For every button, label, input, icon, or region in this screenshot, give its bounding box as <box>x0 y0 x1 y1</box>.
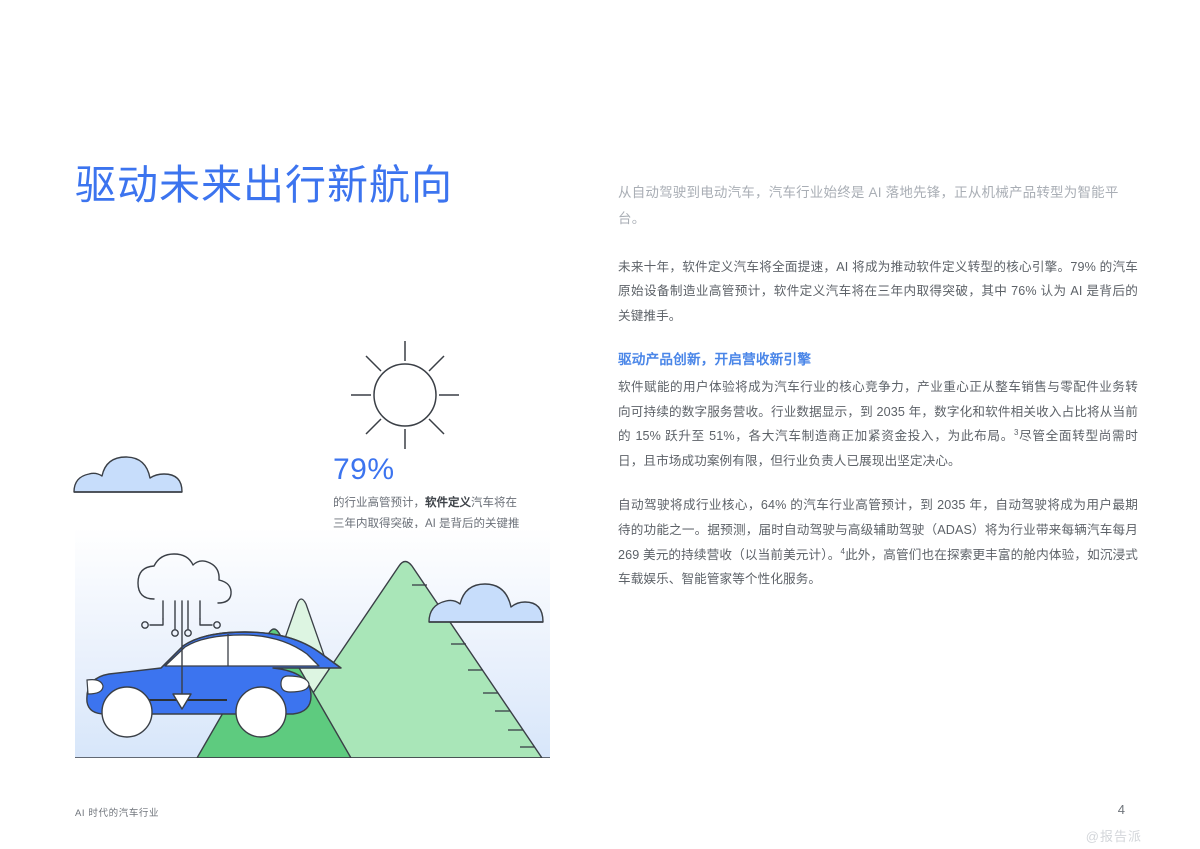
stat-caption-part1: 的行业高管预计， <box>333 497 425 509</box>
page-number: 4 <box>1118 802 1125 817</box>
stat-number: 79% <box>333 454 523 486</box>
page-title: 驱动未来出行新航向 <box>75 160 550 211</box>
paragraph-1: 未来十年，软件定义汽车将全面提速，AI 将成为推动软件定义转型的核心引擎。79%… <box>618 255 1138 329</box>
cloud-node-icon <box>130 553 250 713</box>
cloud-icon-left <box>72 452 184 500</box>
section-heading: 驱动产品创新，开启营收新引擎 <box>618 348 1138 368</box>
right-column: 从自动驾驶到电动汽车，汽车行业始终是 AI 落地先锋，正从机械产品转型为智能平台… <box>618 180 1138 612</box>
paragraph-2: 软件赋能的用户体验将成为汽车行业的核心竞争力，产业重心正从整车销售与零配件业务转… <box>618 375 1138 473</box>
watermark: @报告派 <box>1086 826 1142 845</box>
left-column: 驱动未来出行新航向 <box>75 160 550 211</box>
sun-icon <box>335 333 475 458</box>
lead-paragraph: 从自动驾驶到电动汽车，汽车行业始终是 AI 落地先锋，正从机械产品转型为智能平台… <box>618 180 1138 233</box>
document-page: 驱动未来出行新航向 79% 的行业高管预计，软件定义汽车将在三年内 <box>0 0 1200 849</box>
paragraph-3: 自动驾驶将成行业核心，64% 的汽车行业高管预计，到 2035 年，自动驾驶将成… <box>618 493 1138 591</box>
stat-caption-bold: 软件定义 <box>425 497 471 509</box>
footer-label: AI 时代的汽车行业 <box>75 805 159 819</box>
